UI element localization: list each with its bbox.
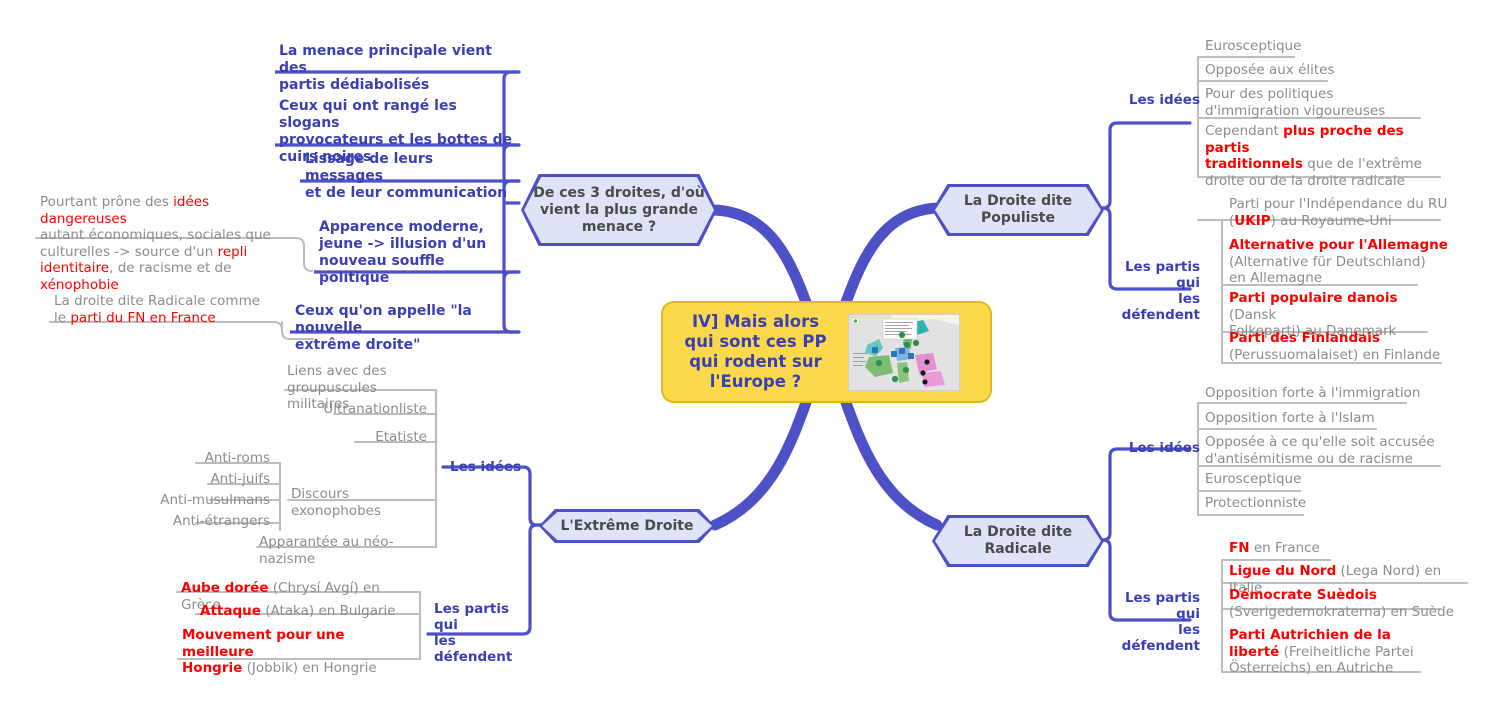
text-run: , de racisme et de (109, 260, 231, 276)
radicale-idee-2[interactable]: Opposée à ce qu'elle soit accusée d'anti… (1199, 432, 1449, 470)
branch-node-menace[interactable]: De ces 3 droites, d'où vient la plus gra… (521, 174, 717, 246)
branch-node-extreme-droite-label: L'Extrême Droite (542, 512, 712, 540)
populiste-parti-3[interactable]: Parti des Finlandais (Perussuomalaiset) … (1223, 328, 1455, 366)
central-topic-node[interactable]: IV] Mais alors qui sont ces PP qui roden… (661, 301, 992, 403)
text-run: (Sverigedemokraterna) en Suède (1229, 604, 1454, 620)
text-run: Opposition forte à l'immigration (1205, 385, 1421, 401)
mindmap-canvas: IV] Mais alors qui sont ces PP qui roden… (0, 0, 1500, 712)
menace-item-0[interactable]: La menace principale vient des partis dé… (272, 40, 522, 98)
text-run: Ultranationliste (323, 401, 427, 417)
text-run: FN (1229, 540, 1250, 556)
populiste-parti-0[interactable]: Parti pour l'Indépendance du RU (UKIP) a… (1223, 194, 1455, 232)
populiste-idee-2[interactable]: Pour des politiques d'immigration vigour… (1199, 84, 1449, 122)
text-run: ) au Royaume-Uni (1271, 213, 1392, 229)
text-run: Parti des Finlandais (1229, 330, 1380, 346)
text-run: (Ataka) en Bulgarie (261, 603, 396, 619)
branch-node-populiste-label: La Droite dite Populiste (935, 187, 1101, 233)
populiste-idee-0[interactable]: Eurosceptique (1199, 36, 1449, 58)
text-run: Cependant (1205, 123, 1283, 139)
text-run: Protectionniste (1205, 495, 1306, 511)
radicale-parti-3[interactable]: Parti Autrichien de la liberté (Freiheit… (1223, 625, 1475, 680)
text-run: Démocrate Suèdois (1229, 587, 1377, 603)
text-run: Attaque (200, 603, 261, 619)
branch-node-extreme-droite[interactable]: L'Extrême Droite (539, 509, 715, 543)
text-run: UKIP (1234, 213, 1270, 229)
menace-item-4[interactable]: Ceux qu'on appelle "la nouvelle extrême … (288, 300, 522, 358)
radicale-parti-0[interactable]: FN en France (1223, 538, 1475, 560)
extreme-idee-1[interactable]: Ultranationliste (293, 399, 433, 421)
text-run: Etatiste (375, 429, 427, 445)
text-run: Anti-étrangers (173, 513, 270, 529)
radicale-idee-3[interactable]: Eurosceptique (1199, 469, 1449, 491)
text-run: (Alternative für Deutschland) en Allemag… (1229, 254, 1426, 287)
text-run: Pourtant prône des (40, 194, 173, 210)
radicale-idee-1[interactable]: Opposition forte à l'Islam (1199, 408, 1449, 430)
branch-node-menace-label: De ces 3 droites, d'où vient la plus gra… (524, 177, 714, 243)
europe-map-thumbnail (848, 314, 960, 391)
text-run: Alternative pour l'Allemagne (1229, 237, 1448, 253)
extreme-parti-1[interactable]: Attaque (Ataka) en Bulgarie (194, 601, 415, 623)
extreme-idee-3[interactable]: Discours exonophobes (285, 484, 433, 522)
extreme-subbranch-idees-label[interactable]: Les idées (450, 459, 530, 475)
menace-item-2[interactable]: Lissage de leurs messages et de leur com… (298, 148, 522, 206)
populiste-subbranch-idees-label[interactable]: Les idées (1110, 92, 1200, 108)
menace-subnote-1[interactable]: La droite dite Radicale comme le parti d… (48, 291, 284, 329)
extreme-idee-4[interactable]: Apparantée au néo-nazisme (253, 532, 433, 570)
text-run: Parti populaire danois (1229, 290, 1398, 306)
branch-node-radicale[interactable]: La Droite dite Radicale (932, 515, 1104, 567)
branch-node-populiste[interactable]: La Droite dite Populiste (932, 184, 1104, 236)
text-run: Eurosceptique (1205, 471, 1301, 487)
text-run: Opposition forte à l'Islam (1205, 410, 1375, 426)
text-run: en France (1250, 540, 1320, 556)
branch-node-radicale-label: La Droite dite Radicale (935, 518, 1101, 564)
radicale-idee-4[interactable]: Protectionniste (1199, 493, 1449, 515)
extreme-exonophobe-3[interactable]: Anti-étrangers (152, 511, 276, 533)
extreme-idee-2[interactable]: Etatiste (293, 427, 433, 449)
text-run: Discours exonophobes (291, 486, 381, 519)
radicale-subbranch-partis-label[interactable]: Les partis qui les défendent (1104, 590, 1200, 654)
extreme-parti-2[interactable]: Mouvement pour une meilleure Hongrie (Jo… (176, 625, 415, 680)
populiste-idee-3[interactable]: Cependant plus proche des partis traditi… (1199, 121, 1449, 192)
radicale-parti-2[interactable]: Démocrate Suèdois (Sverigedemokraterna) … (1223, 585, 1475, 623)
text-run: (Perussuomalaiset) en Finlande (1229, 347, 1440, 363)
text-run: (Jobbik) en Hongrie (242, 660, 376, 676)
central-topic-label: IV] Mais alors qui sont ces PP qui roden… (663, 312, 848, 392)
populiste-idee-1[interactable]: Opposée aux élites (1199, 60, 1449, 82)
text-run: Aube dorée (181, 580, 269, 596)
text-run: Eurosceptique (1205, 38, 1301, 54)
text-run: parti du FN en France (70, 310, 215, 326)
menace-item-3[interactable]: Apparence moderne, jeune -> illusion d'u… (312, 216, 522, 291)
populiste-subbranch-partis-label[interactable]: Les partis qui les défendent (1104, 259, 1200, 323)
text-run: Anti-juifs (210, 471, 270, 487)
extreme-exonophobe-0[interactable]: Anti-roms (160, 448, 276, 470)
text-run: Apparantée au néo-nazisme (259, 534, 394, 567)
text-run: Anti-roms (205, 450, 270, 466)
populiste-parti-1[interactable]: Alternative pour l'Allemagne (Alternativ… (1223, 235, 1455, 290)
menace-subnote-0[interactable]: Pourtant prône des idées dangereuses aut… (34, 192, 306, 296)
text-run: Opposée aux élites (1205, 62, 1335, 78)
extreme-exonophobe-2[interactable]: Anti-musulmans (152, 490, 276, 512)
text-run: Anti-musulmans (160, 492, 270, 508)
extreme-exonophobe-1[interactable]: Anti-juifs (160, 469, 276, 491)
text-run: Ligue du Nord (1229, 563, 1336, 579)
extreme-subbranch-partis-label[interactable]: Les partis qui les défendent (434, 601, 530, 665)
radicale-subbranch-idees-label[interactable]: Les idées (1110, 440, 1200, 456)
text-run: Opposée à ce qu'elle soit accusée d'anti… (1205, 434, 1435, 467)
radicale-idee-0[interactable]: Opposition forte à l'immigration (1199, 383, 1449, 405)
text-run: Pour des politiques d'immigration vigour… (1205, 86, 1385, 119)
